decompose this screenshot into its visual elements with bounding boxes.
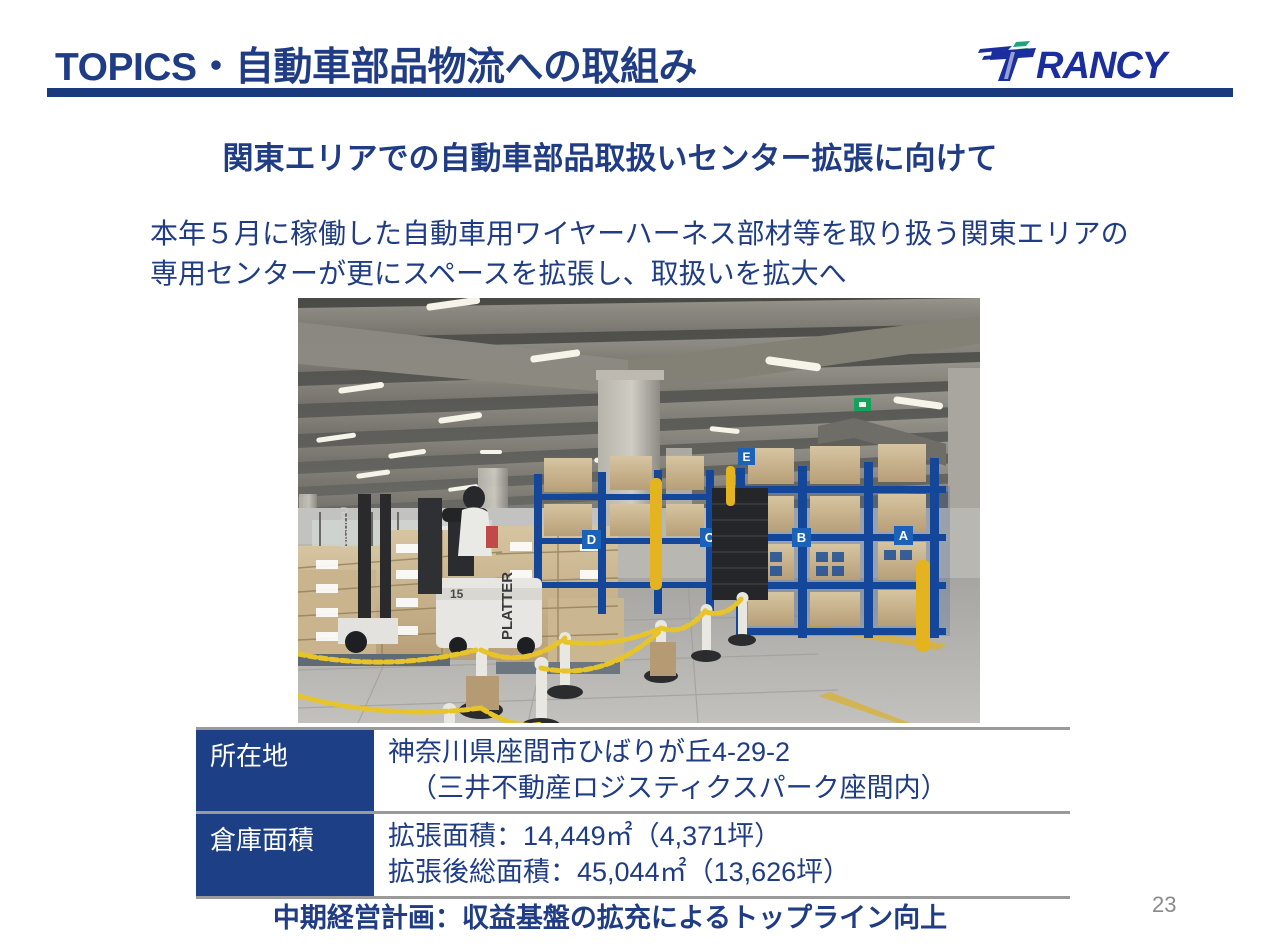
footer-tagline-text: 中期経営計画：収益基盤の拡充によるトップライン向上: [273, 896, 1007, 935]
page-number: 23: [1152, 892, 1176, 918]
photo-aisle-sign-a: A: [894, 526, 913, 545]
trancy-logo: RANCY: [978, 37, 1193, 83]
footer-tagline: 中期経営計画：収益基盤の拡充によるトップライン向上: [0, 896, 1280, 935]
photo-exit-sign: [854, 398, 871, 411]
area-line-2: 拡張後総面積：45,044㎡（13,626坪）: [388, 855, 1070, 891]
facility-info-table: 所在地 神奈川県座間市ひばりが丘4-29-2 （三井不動産ロジスティクスパーク座…: [196, 727, 1070, 899]
warehouse-photo: D C B A E: [298, 298, 980, 723]
photo-aisle-sign-b: B: [792, 528, 811, 547]
location-line-2: （三井不動産ロジスティクスパーク座間内）: [388, 771, 1070, 807]
section-subtitle: 関東エリアでの自動車部品取扱いセンター拡張に向けて: [0, 133, 1280, 178]
page-title: TOPICS・自動車部品物流への取組み: [55, 36, 697, 92]
body-paragraph: 本年５月に稼働した自動車用ワイヤーハーネス部材等を取り扱う関東エリアの 専用セン…: [150, 214, 1150, 294]
table-row: 倉庫面積 拡張面積：14,449㎡（4,371坪） 拡張後総面積：45,044㎡…: [196, 814, 1070, 895]
body-line-2: 専用センターが更にスペースを拡張し、取扱いを拡大へ: [150, 254, 1150, 294]
table-row-value-location: 神奈川県座間市ひばりが丘4-29-2 （三井不動産ロジスティクスパーク座間内）: [374, 730, 1070, 811]
trancy-logo-svg: RANCY: [978, 37, 1193, 83]
table-row-label-location: 所在地: [196, 730, 374, 811]
photo-forklift-brand-text: PLATTER: [499, 572, 516, 640]
table-row-value-area: 拡張面積：14,449㎡（4,371坪） 拡張後総面積：45,044㎡（13,6…: [374, 814, 1070, 895]
photo-drawer-cabinet: [712, 488, 768, 600]
svg-text:RANCY: RANCY: [1036, 45, 1171, 83]
warehouse-photo-svg: D C B A E: [298, 298, 980, 723]
body-line-1: 本年５月に稼働した自動車用ワイヤーハーネス部材等を取り扱う関東エリアの: [150, 214, 1150, 254]
section-subtitle-text: 関東エリアでの自動車部品取扱いセンター拡張に向けて: [223, 133, 1058, 178]
photo-forklift-model-text: 15: [450, 587, 464, 601]
svg-text:E: E: [742, 450, 750, 464]
table-row: 所在地 神奈川県座間市ひばりが丘4-29-2 （三井不動産ロジスティクスパーク座…: [196, 730, 1070, 811]
area-line-1: 拡張面積：14,449㎡（4,371坪）: [388, 819, 1070, 855]
title-divider-rule: [47, 88, 1233, 97]
table-row-label-area: 倉庫面積: [196, 814, 374, 895]
location-line-1: 神奈川県座間市ひばりが丘4-29-2: [388, 735, 1070, 771]
logo-t-mark: [990, 48, 1036, 81]
photo-rack-brand-text: NICHIYU: [340, 507, 351, 548]
svg-text:B: B: [797, 530, 806, 545]
photo-aisle-sign-d: D: [582, 530, 601, 549]
svg-text:D: D: [587, 532, 596, 547]
svg-text:A: A: [899, 528, 909, 543]
photo-aisle-sign-e: E: [738, 448, 755, 465]
